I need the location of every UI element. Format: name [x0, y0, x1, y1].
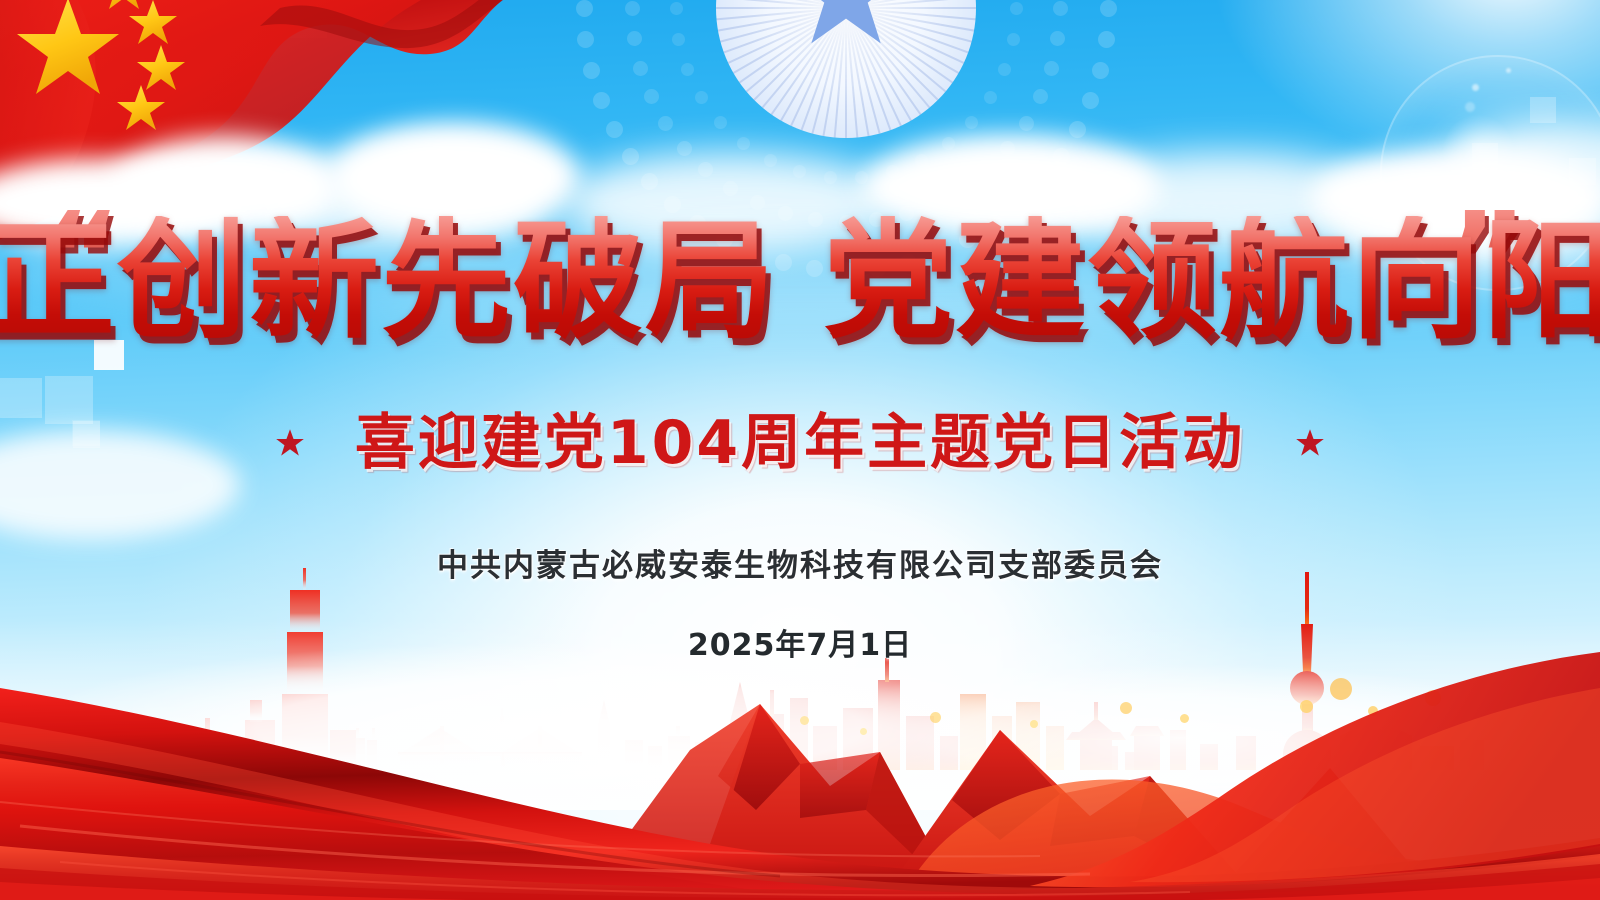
poster-subtitle-row: 喜迎建党104周年主题党日活动	[0, 404, 1600, 482]
headline-part-2: 党建领航向阳生	[823, 216, 1600, 346]
right-star-icon	[1295, 428, 1325, 458]
lens-flare-dot	[1465, 102, 1475, 112]
event-date: 2025年7月1日	[0, 620, 1600, 664]
decor-square	[1530, 97, 1556, 123]
left-star-icon	[275, 428, 305, 458]
poster-canvas: “ ” 守正创新先破局 党建领航向阳生 喜迎建党104周年主题党日活动 中共内蒙…	[0, 0, 1600, 900]
organization-name: 中共内蒙古必威安泰生物科技有限公司支部委员会	[0, 540, 1600, 585]
red-silk-ribbon	[0, 630, 1600, 900]
poster-subtitle: 喜迎建党104周年主题党日活动	[355, 413, 1245, 473]
headline-part-1: 守正创新先破局	[0, 216, 777, 346]
rosette-star-icon	[787, 0, 905, 53]
poster-headline: 守正创新先破局 党建领航向阳生	[0, 206, 1600, 356]
lens-flare-dot	[1472, 84, 1479, 91]
lens-flare-dot	[1506, 68, 1511, 73]
